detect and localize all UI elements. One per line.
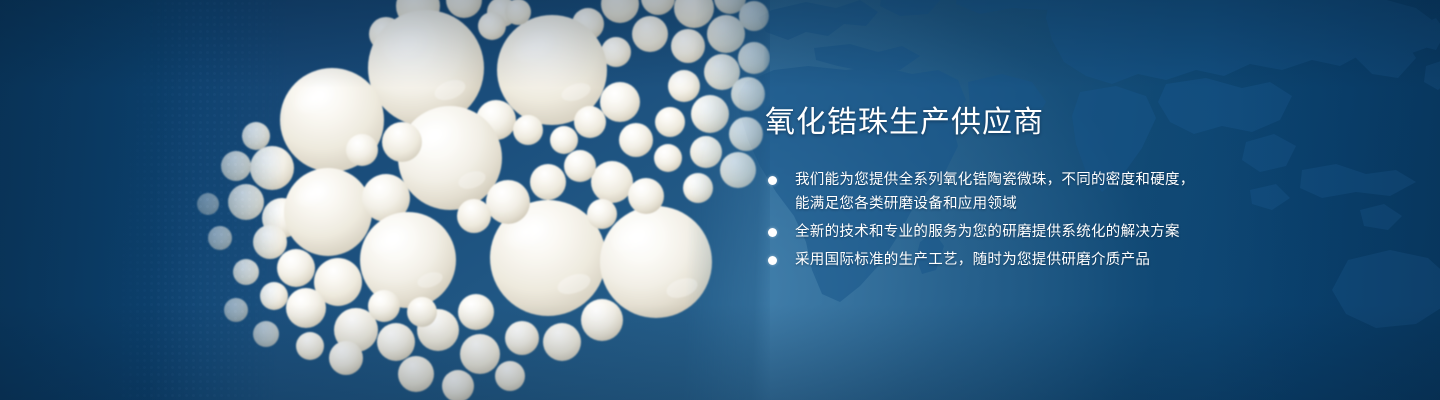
bullet-dot-icon [768, 256, 777, 265]
list-item: 我们能为您提供全系列氧化锆陶瓷微珠，不同的密度和硬度， 能满足您各类研磨设备和应… [765, 168, 1365, 216]
bullet-text-line-1: 全新的技术和专业的服务为您的研磨提供系统化的解决方案 [795, 224, 1180, 240]
list-item: 全新的技术和专业的服务为您的研磨提供系统化的解决方案 [765, 220, 1365, 244]
bullet-dot-icon [768, 176, 777, 185]
hero-banner: 氧化锆珠生产供应商 我们能为您提供全系列氧化锆陶瓷微珠，不同的密度和硬度， 能满… [0, 0, 1440, 400]
feature-bullet-list: 我们能为您提供全系列氧化锆陶瓷微珠，不同的密度和硬度， 能满足您各类研磨设备和应… [765, 168, 1365, 272]
list-item: 采用国际标准的生产工艺，随时为您提供研磨介质产品 [765, 248, 1365, 272]
bullet-text-line-1: 我们能为您提供全系列氧化锆陶瓷微珠，不同的密度和硬度， [795, 172, 1195, 188]
bullet-dot-icon [768, 228, 777, 237]
bullet-text-line-1: 采用国际标准的生产工艺，随时为您提供研磨介质产品 [795, 252, 1150, 268]
bullet-text-line-2: 能满足您各类研磨设备和应用领域 [795, 192, 1365, 216]
page-title: 氧化锆珠生产供应商 [765, 104, 1365, 142]
banner-copy-block: 氧化锆珠生产供应商 我们能为您提供全系列氧化锆陶瓷微珠，不同的密度和硬度， 能满… [765, 104, 1365, 272]
